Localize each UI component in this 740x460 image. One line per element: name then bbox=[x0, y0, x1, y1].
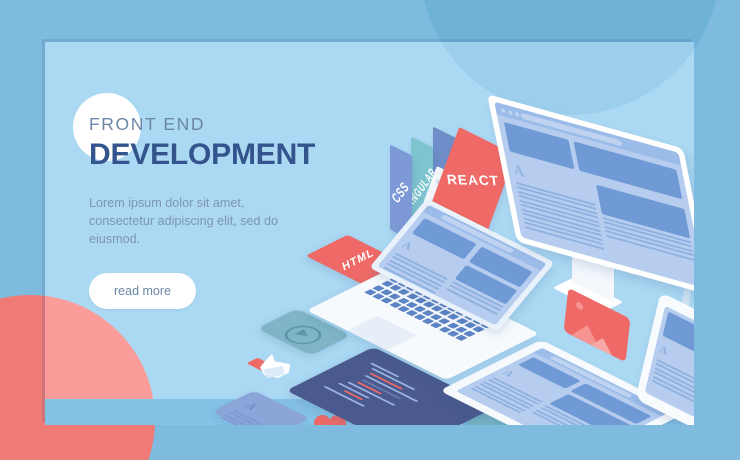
desktop-monitor: A bbox=[500, 120, 694, 370]
monitor-screen-letter: A bbox=[512, 162, 526, 181]
hero-eyebrow: FRONT END bbox=[89, 114, 349, 135]
decor-circle-top-overlay bbox=[420, 42, 694, 115]
code-line bbox=[343, 390, 363, 400]
browser-dot-2 bbox=[508, 110, 513, 115]
page-title: DEVELOPMENT bbox=[89, 138, 349, 172]
monitor-screen: A bbox=[494, 102, 694, 289]
sun-shape bbox=[576, 301, 584, 311]
browser-dot-3 bbox=[515, 112, 520, 117]
hero-card: FRONT END DEVELOPMENT Lorem ipsum dolor … bbox=[45, 42, 694, 425]
laptop-screen-letter: A bbox=[399, 240, 415, 253]
tablet-screen-letter: A bbox=[498, 369, 517, 379]
hero-description: Lorem ipsum dolor sit amet, consectetur … bbox=[89, 194, 289, 248]
illustration-stage: FRONT END DEVELOPMENT Lorem ipsum dolor … bbox=[0, 0, 740, 460]
book-css-title: CSS bbox=[390, 179, 413, 207]
cursor-hand-icon bbox=[252, 352, 296, 382]
book-react-title: REACT bbox=[446, 172, 500, 189]
document-card-icon: A bbox=[233, 394, 289, 425]
read-more-button[interactable]: read more bbox=[89, 273, 196, 309]
hero-text-column: FRONT END DEVELOPMENT Lorem ipsum dolor … bbox=[89, 114, 349, 309]
browser-dot-1 bbox=[501, 108, 506, 113]
